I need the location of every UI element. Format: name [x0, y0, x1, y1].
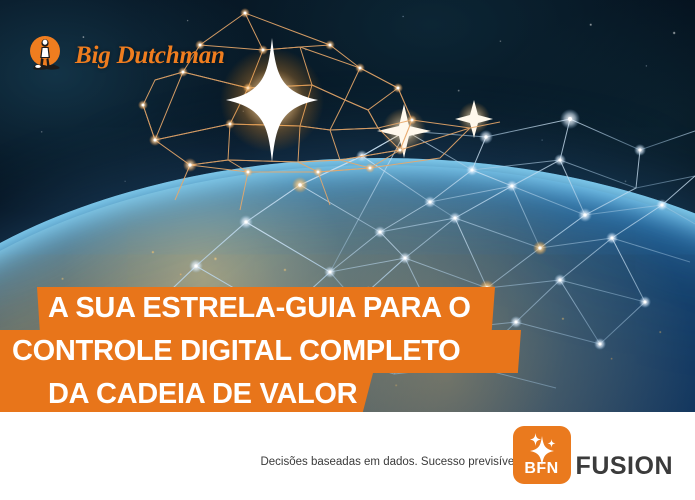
big-dutchman-logo[interactable]: Big Dutchman: [25, 34, 225, 76]
headline-line-3: DA CADEIA DE VALOR: [48, 377, 357, 412]
headline-row-1: A SUA ESTRELA-GUIA PARA O: [0, 287, 695, 330]
bfn-logo-tile: BFN: [513, 426, 571, 484]
bfn-tile-text: BFN: [513, 460, 571, 478]
headline-block: A SUA ESTRELA-GUIA PARA O CONTROLE DIGIT…: [0, 287, 695, 416]
big-dutchman-wordmark: Big Dutchman: [75, 43, 225, 68]
footer-tagline: Decisões baseadas em dados. Sucesso prev…: [260, 456, 520, 468]
headline-line-1: A SUA ESTRELA-GUIA PARA O: [48, 291, 471, 326]
headline-line-2: CONTROLE DIGITAL COMPLETO: [12, 334, 460, 369]
fusion-wordmark: FUSION: [576, 454, 673, 479]
headline-row-3: DA CADEIA DE VALOR: [0, 373, 695, 416]
headline-row-2: CONTROLE DIGITAL COMPLETO: [0, 330, 695, 373]
bfn-fusion-logo[interactable]: BFN FUSION: [513, 422, 673, 484]
big-dutchman-rooster-icon: [25, 34, 67, 76]
marketing-banner: Big Dutchman A SUA ESTRELA-GUIA PARA O C…: [0, 0, 695, 500]
footer-bar: Decisões baseadas em dados. Sucesso prev…: [0, 412, 695, 500]
